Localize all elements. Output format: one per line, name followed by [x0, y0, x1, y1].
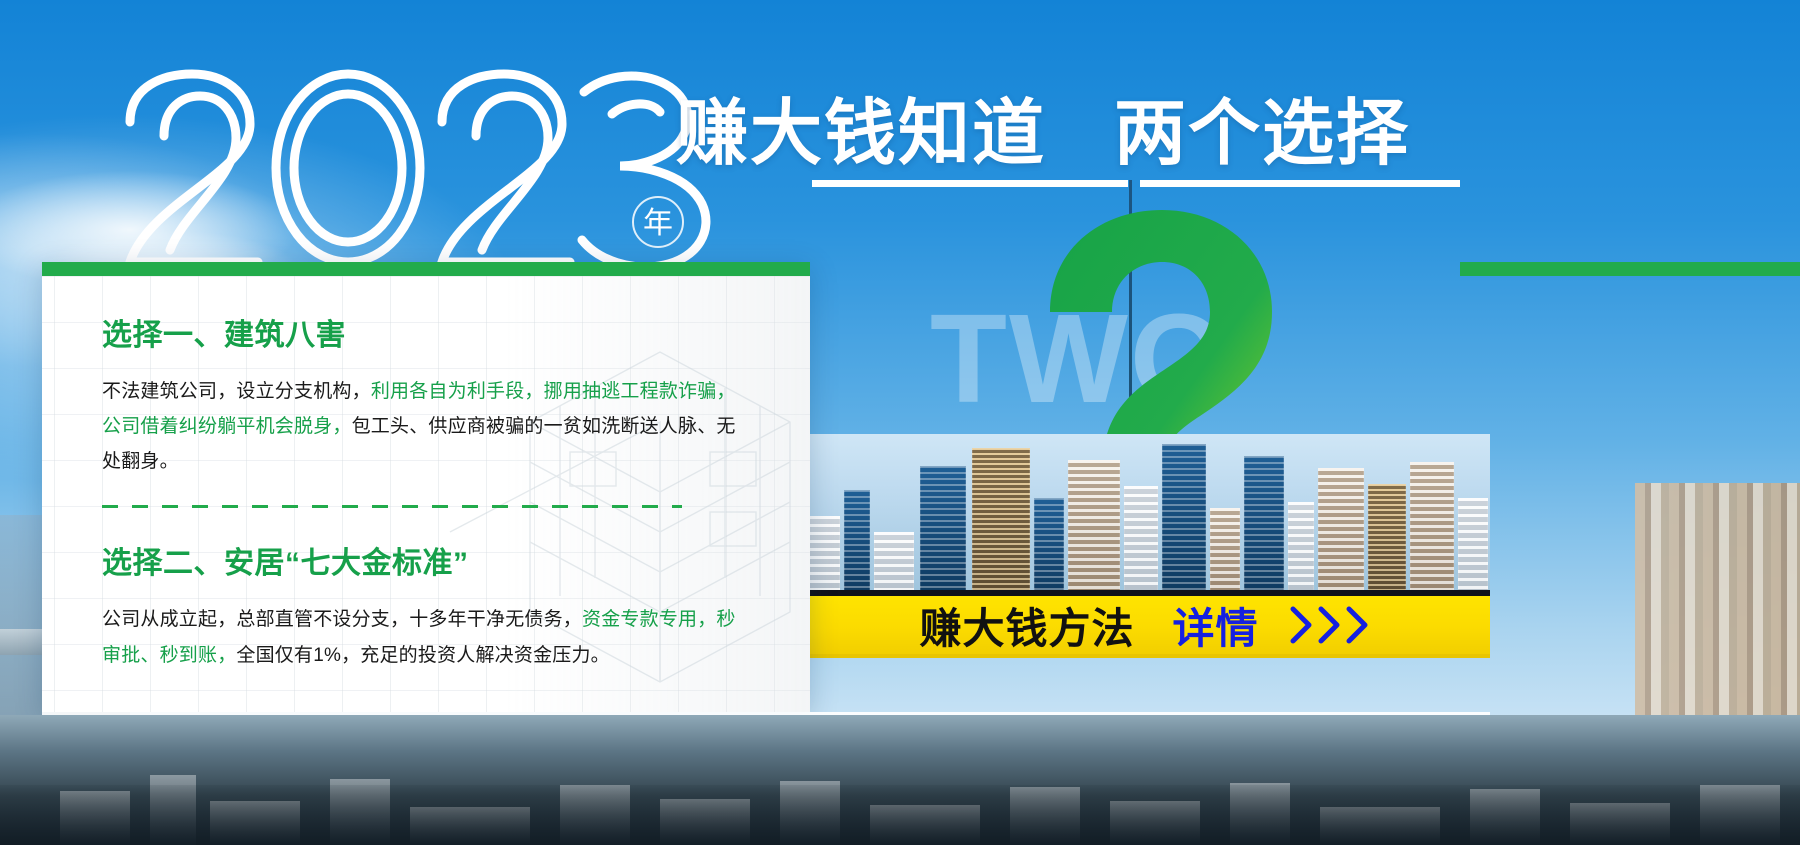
- cta-main-label: 赚大钱方法: [919, 595, 1134, 656]
- headline-part1: 赚大钱知道: [676, 94, 1046, 174]
- headline-part2: 两个选择: [1114, 94, 1410, 174]
- year-suffix: 年: [632, 196, 684, 248]
- right-cityscape: [1635, 483, 1800, 733]
- section-2-body: 公司从成立起，总部直管不设分支，十多年干净无债务，资金专款专用，秒审批、秒到账，…: [102, 602, 754, 672]
- section-1-body-part-1: 不法建筑公司，设立分支机构，: [102, 381, 371, 402]
- section-2-body-part-1: 公司从成立起，总部直管不设分支，十多年干净无债务，: [102, 609, 582, 630]
- section-divider: [102, 505, 682, 508]
- bottom-city-strip: [0, 715, 1800, 845]
- page-title: 赚大钱知道 两个选择: [676, 74, 1410, 179]
- city-photo-panel: [800, 434, 1490, 594]
- section-2-title: 选择二、安居“七大金标准”: [102, 538, 754, 582]
- section-2-body-part-3: 全国仅有1%，充足的投资人解决资金压力。: [236, 645, 609, 666]
- headline-rule-left: [812, 180, 1128, 187]
- promo-poster: 年 赚大钱知道 两个选择 TWO choices: [0, 0, 1800, 845]
- card-section-1: 选择一、建筑八害 不法建筑公司，设立分支机构，利用各自为利手段，挪用抽逃工程款诈…: [102, 310, 754, 479]
- section-1-title: 选择一、建筑八害: [102, 310, 754, 354]
- section-1-body: 不法建筑公司，设立分支机构，利用各自为利手段，挪用抽逃工程款诈骗，公司借着纠纷躺…: [102, 374, 754, 479]
- card-section-2: 选择二、安居“七大金标准” 公司从成立起，总部直管不设分支，十多年干净无债务，资…: [102, 538, 754, 672]
- green-accent-bar: [1460, 262, 1800, 276]
- cta-banner[interactable]: 赚大钱方法 详情: [800, 596, 1490, 658]
- card-content: 选择一、建筑八害 不法建筑公司，设立分支机构，利用各自为利手段，挪用抽逃工程款诈…: [42, 262, 810, 673]
- vertical-divider-line: [1129, 180, 1132, 430]
- chevron-right-icon: [1289, 605, 1371, 645]
- year-suffix-char: 年: [632, 196, 684, 248]
- cta-link-label[interactable]: 详情: [1173, 595, 1259, 656]
- headline-rule-right: [1140, 180, 1460, 187]
- info-card: 选择一、建筑八害 不法建筑公司，设立分支机构，利用各自为利手段，挪用抽逃工程款诈…: [42, 262, 810, 712]
